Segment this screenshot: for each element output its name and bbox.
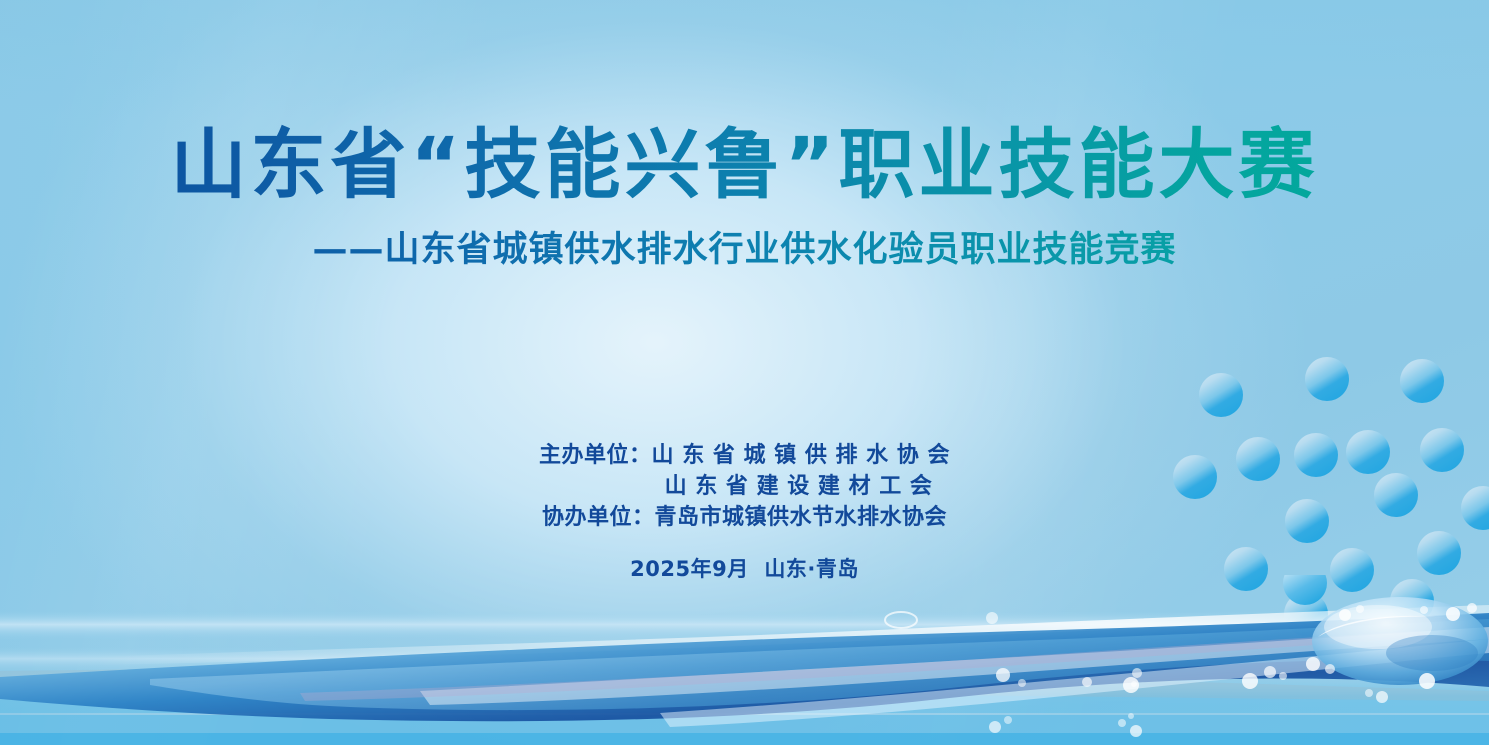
poster-canvas: 山东省“技能兴鲁”职业技能大赛 ——山东省城镇供水排水行业供水化验员职业技能竞赛…: [0, 0, 1489, 745]
background-gradient: [0, 0, 1489, 745]
